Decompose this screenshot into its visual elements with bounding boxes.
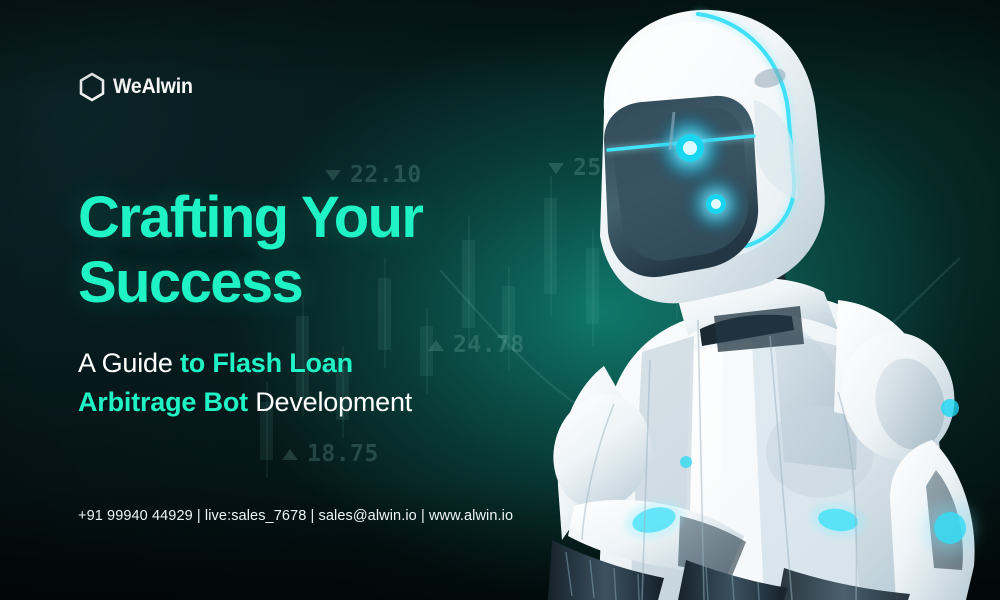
contact-line[interactable]: +91 99940 44929 | live:sales_7678 | sale… (78, 508, 513, 524)
ticker-value: 18.75 (307, 441, 379, 467)
hexagon-icon (78, 72, 106, 102)
hero-copy: Crafting Your Success A Guide to Flash L… (78, 186, 638, 422)
arrow-up-icon (282, 449, 298, 460)
robot-eye-lower (692, 180, 740, 228)
ticker-label: 18.75 (282, 441, 379, 467)
hero-subtitle: A Guide to Flash LoanArbitrage Bot Devel… (78, 344, 638, 422)
subtitle-highlight-1: to Flash Loan (180, 348, 353, 378)
marketing-banner: 22.10 25.01 24.78 18.75 (0, 0, 1000, 600)
subtitle-text-2: Development (248, 387, 412, 417)
headline-line-2: Success (78, 251, 638, 316)
subtitle-highlight-2: Arbitrage Bot (78, 387, 248, 417)
headline-line-1: Crafting Your (78, 186, 638, 251)
page-title: Crafting Your Success (78, 186, 638, 316)
arrow-down-icon (325, 170, 341, 181)
subtitle-text-1: A Guide (78, 348, 180, 378)
brand-name: WeAlwin (113, 75, 193, 99)
brand-logo[interactable]: WeAlwin (78, 72, 199, 102)
